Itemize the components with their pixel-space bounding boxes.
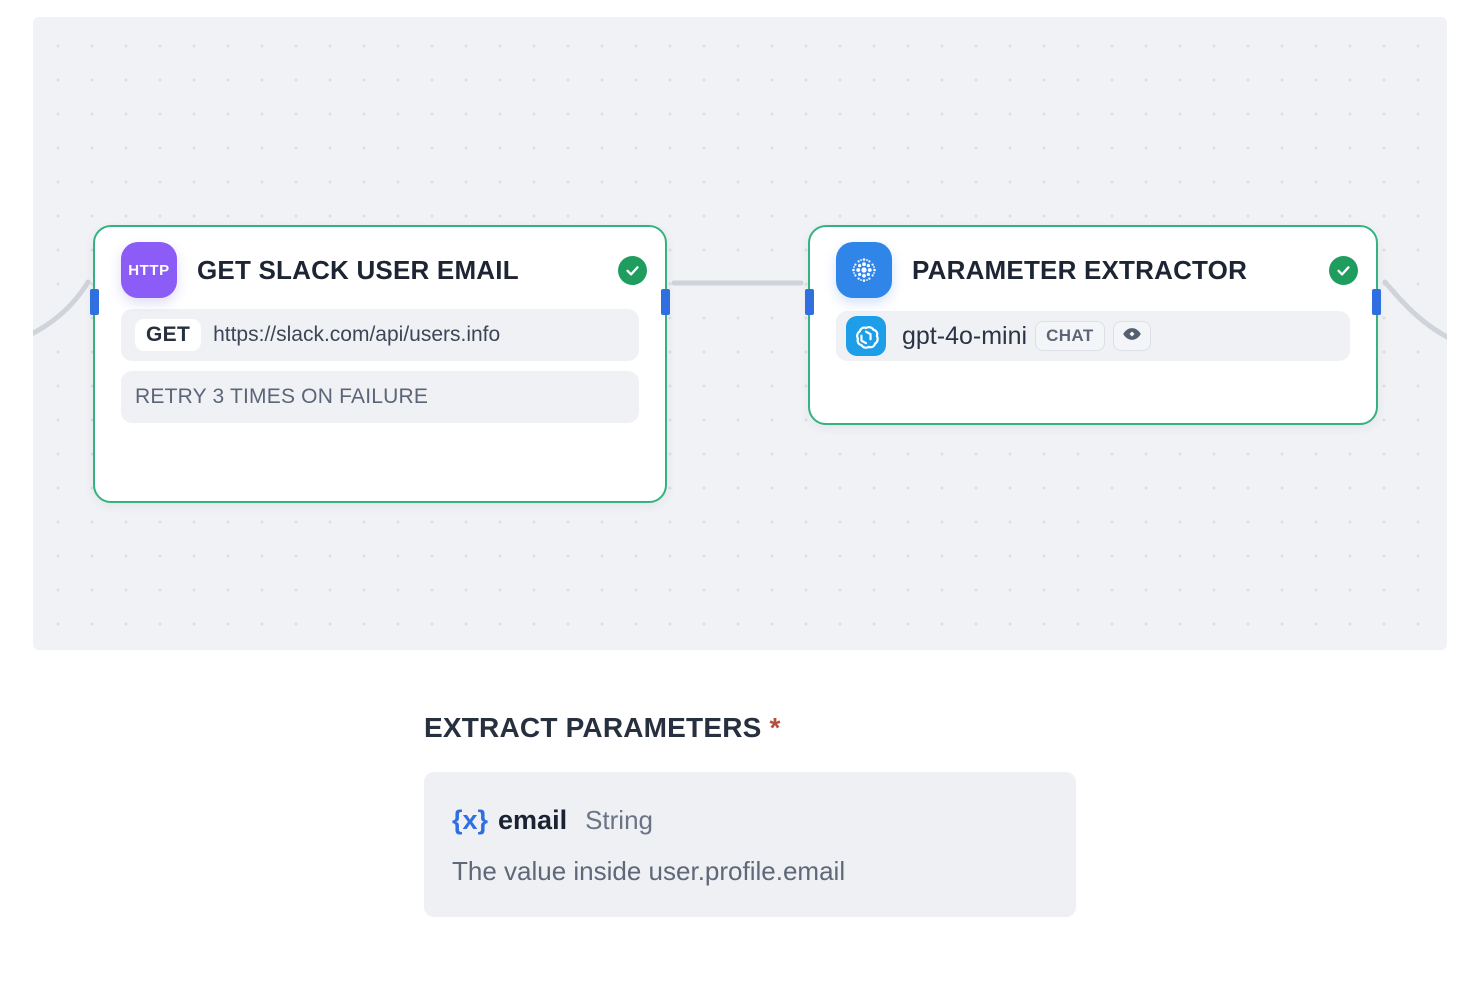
vision-badge[interactable] [1113,321,1151,351]
node-title: PARAMETER EXTRACTOR [912,255,1329,286]
extract-parameters-panel: EXTRACT PARAMETERS * {x} email String Th… [424,712,1124,917]
check-circle-icon [1329,256,1358,285]
model-selector-row[interactable]: gpt-4o-mini CHAT [836,311,1350,361]
http-retry-text: RETRY 3 TIMES ON FAILURE [135,385,428,409]
http-method-badge: GET [135,319,201,351]
node-parameter-extractor[interactable]: PARAMETER EXTRACTOR [808,225,1378,425]
model-name-text: gpt-4o-mini [902,322,1027,351]
eye-icon [1122,326,1142,346]
http-request-row[interactable]: GET https://slack.com/api/users.info [121,309,639,361]
extract-parameters-heading: EXTRACT PARAMETERS * [424,712,1124,744]
parameter-description: The value inside user.profile.email [452,856,1076,887]
edge-incoming [33,282,88,347]
parameter-card[interactable]: {x} email String The value inside user.p… [424,772,1076,917]
dotted-sphere-icon [836,242,892,298]
openai-icon [846,316,886,356]
parameter-name: email [498,805,567,836]
check-circle-icon [618,256,647,285]
extract-parameters-label: EXTRACT PARAMETERS [424,712,762,743]
node-handle-source[interactable] [1372,289,1381,315]
node-handle-source[interactable] [661,289,670,315]
node-handle-target[interactable] [805,289,814,315]
parameter-type: String [585,805,653,836]
http-url-text: https://slack.com/api/users.info [213,323,500,347]
http-icon: HTTP [121,242,177,298]
node-title: GET SLACK USER EMAIL [197,255,618,286]
variable-icon: {x} [452,805,488,836]
model-mode-badge: CHAT [1035,321,1105,351]
http-icon-label: HTTP [128,262,170,279]
edge-outgoing [1385,282,1447,352]
node-header: PARAMETER EXTRACTOR [810,241,1376,299]
node-handle-target[interactable] [90,289,99,315]
node-header: HTTP GET SLACK USER EMAIL [95,241,665,299]
http-retry-row[interactable]: RETRY 3 TIMES ON FAILURE [121,371,639,423]
parameter-card-header: {x} email String [452,805,1076,836]
flow-canvas[interactable]: HTTP GET SLACK USER EMAIL GET https://sl… [33,17,1447,650]
node-get-slack-user-email[interactable]: HTTP GET SLACK USER EMAIL GET https://sl… [93,225,667,503]
required-asterisk: * [770,712,781,743]
